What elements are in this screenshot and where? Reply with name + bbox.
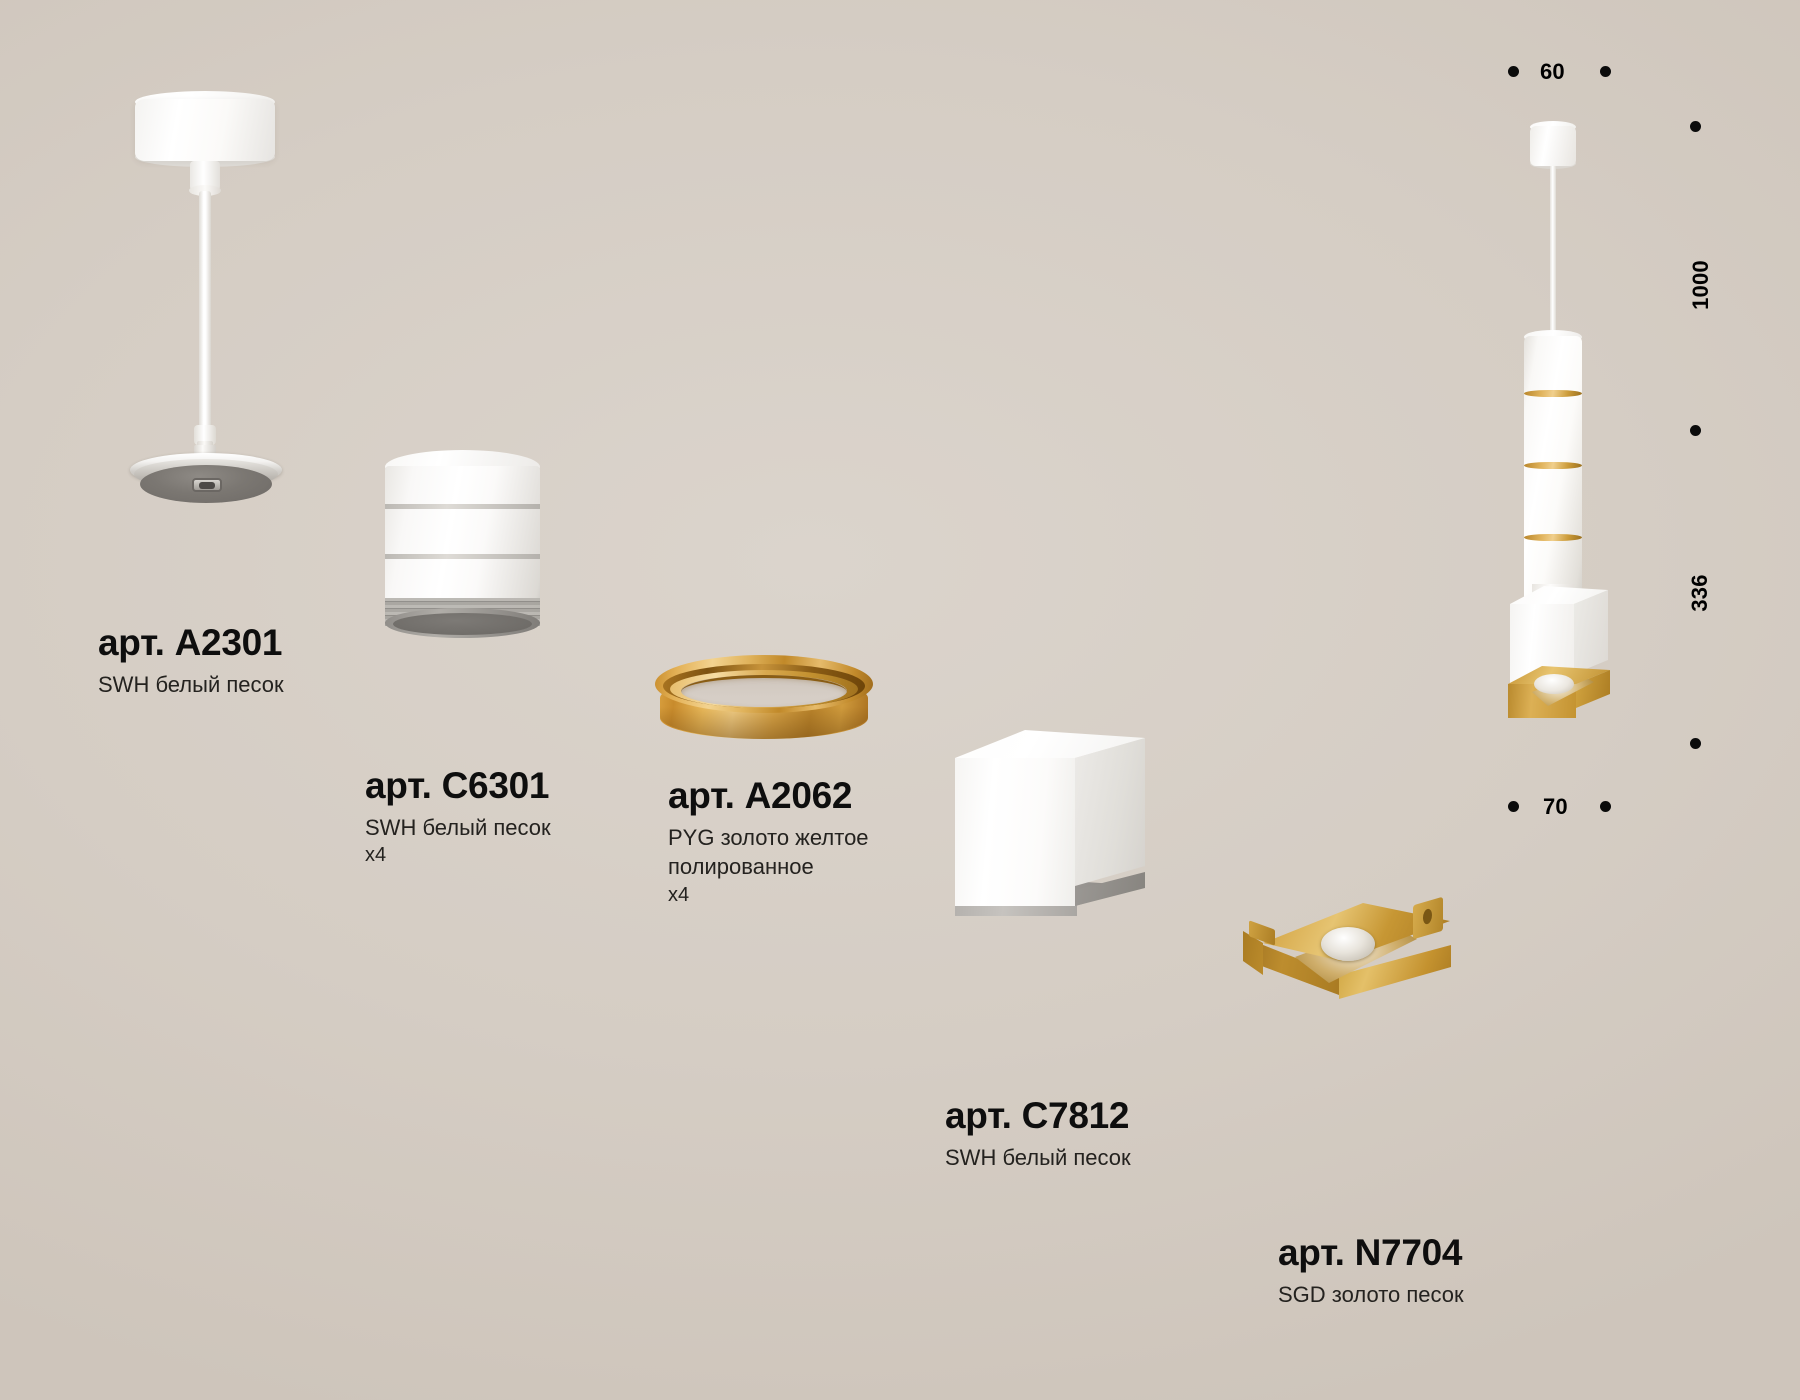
dim-bottom-width: 70: [1543, 794, 1568, 820]
dim-suspension-length: 1000: [1688, 249, 1714, 321]
ceiling-cup-body: [135, 99, 275, 161]
product-a2062-gold-ring: [655, 655, 875, 765]
dim-dot-bottom-left: [1508, 801, 1519, 812]
gold-ring-inner-lip: [681, 675, 847, 709]
dim-dot-top-left: [1508, 66, 1519, 77]
c6301-quantity: x4: [365, 842, 551, 868]
product-n7704-gold-module: [1235, 895, 1465, 1050]
gold-module-lens: [1321, 927, 1375, 961]
label-c7812: арт. C7812 SWH белый песок: [945, 1095, 1131, 1172]
pendant-lens: [1534, 674, 1574, 694]
dim-dot-bottom-right: [1600, 801, 1611, 812]
c7812-art-code: арт. C7812: [945, 1095, 1131, 1136]
dim-dot-canopy-right: [1690, 121, 1701, 132]
a2062-finish-line2: полированное: [668, 852, 869, 881]
label-a2301: арт. A2301 SWH белый песок: [98, 622, 284, 699]
dim-dot-bottom: [1690, 738, 1701, 749]
label-n7704: арт. N7704 SGD золото песок: [1278, 1232, 1464, 1309]
a2062-art-code: арт. A2062: [668, 775, 869, 816]
product-c6301-cylinder: [385, 450, 545, 650]
cube-front-face: [955, 758, 1075, 906]
pendant-gold-ring-1: [1524, 390, 1582, 397]
c7812-finish: SWH белый песок: [945, 1143, 1131, 1172]
assembled-pendant-lamp: [1496, 118, 1646, 818]
pendant-housing-side: [1574, 590, 1608, 674]
n7704-finish: SGD золото песок: [1278, 1280, 1464, 1309]
pendant-gold-ring-2: [1524, 462, 1582, 469]
bracket-hex-socket-hole: [199, 482, 215, 489]
c6301-art-code: арт. C6301: [365, 765, 551, 806]
cylinder-bottom-cavity: [393, 613, 532, 635]
dim-top-width: 60: [1540, 59, 1565, 85]
label-c6301: арт. C6301 SWH белый песок x4: [365, 765, 551, 868]
product-a2301-ceiling-mount: [120, 85, 420, 525]
pendant-canopy: [1530, 126, 1576, 166]
diagram-canvas: арт. A2301 SWH белый песок арт. C6301 SW…: [0, 0, 1800, 1400]
dim-fixture-height: 336: [1687, 563, 1713, 623]
c6301-finish: SWH белый песок: [365, 813, 551, 842]
product-c7812-square-housing: [955, 730, 1155, 930]
a2301-art-code: арт. A2301: [98, 622, 284, 663]
cube-side-face: [1075, 738, 1145, 886]
pendant-gold-ring-3: [1524, 534, 1582, 541]
dim-dot-mid: [1690, 425, 1701, 436]
suspension-rod: [199, 191, 211, 431]
a2062-finish-line1: PYG золото желтое: [668, 823, 869, 852]
cylinder-body: [385, 466, 540, 614]
label-a2062: арт. A2062 PYG золото желтое полированно…: [668, 775, 869, 908]
a2301-finish: SWH белый песок: [98, 670, 284, 699]
a2062-quantity: x4: [668, 882, 869, 908]
dim-dot-top-right: [1600, 66, 1611, 77]
n7704-art-code: арт. N7704: [1278, 1232, 1464, 1273]
cylinder-seam-2: [385, 554, 540, 559]
cylinder-seam-1: [385, 504, 540, 509]
